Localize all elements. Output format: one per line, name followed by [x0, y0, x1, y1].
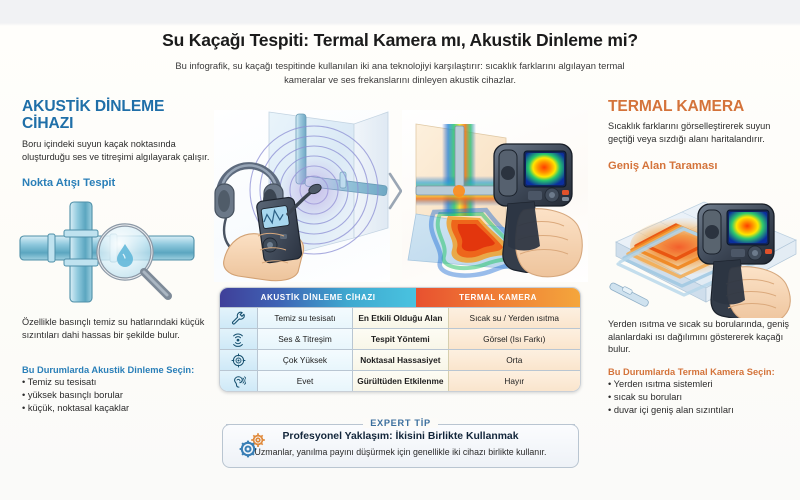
acoustic-note: Özellikle basınçlı temiz su hatlarındaki… — [22, 316, 214, 341]
signal-icon — [220, 329, 258, 349]
tip-heading: Profesyonel Yaklaşım: İkisini Birlikte K… — [222, 431, 579, 442]
table-cell-thermal: Hayır — [449, 371, 580, 391]
acoustic-use-cases-title: Bu Durumlarda Akustik Dinleme Seçin: — [22, 364, 218, 376]
table-cell-acoustic: Ses & Titreşim — [258, 329, 353, 349]
table-row: Ses & Titreşim Tespit Yöntemi Görsel (Is… — [220, 328, 580, 349]
infographic-canvas: Su Kaçağı Tespiti: Termal Kamera mı, Aku… — [0, 0, 800, 500]
table-header-acoustic: AKUSTİK DİNLEME CİHAZI — [220, 288, 416, 307]
acoustic-column: AKUSTİK DİNLEME CİHAZI Boru içindeki suy… — [22, 98, 212, 191]
target-icon — [220, 350, 258, 370]
table-header-thermal: TERMAL KAMERA — [416, 288, 580, 307]
header: Su Kaçağı Tespiti: Termal Kamera mı, Aku… — [0, 30, 800, 86]
thermal-use-cases-title: Bu Durumlarda Termal Kamera Seçin: — [608, 366, 800, 378]
thermal-column: TERMAL KAMERA Sıcaklık farklarını görsel… — [608, 98, 798, 173]
acoustic-listening-device-illustration — [214, 110, 390, 282]
acoustic-description: Boru içindeki suyun kaçak noktasında olu… — [22, 138, 212, 163]
acoustic-heading: AKUSTİK DİNLEME CİHAZI — [22, 98, 212, 133]
table-cell-acoustic: Temiz su tesisatı — [258, 308, 353, 328]
table-cell-acoustic: Evet — [258, 371, 353, 391]
table-cell-label: Noktasal Hassasiyet — [353, 350, 448, 370]
tip-legend: EXPERT TİP — [222, 418, 579, 428]
ear-icon — [220, 371, 258, 391]
table-cell-label: En Etkili Olduğu Alan — [353, 308, 448, 328]
table-cell-thermal: Görsel (Isı Farkı) — [449, 329, 580, 349]
table-row: Evet Gürültüden Etkilenme Hayır — [220, 370, 580, 391]
table-row: Çok Yüksek Noktasal Hassasiyet Orta — [220, 349, 580, 370]
thermal-camera-wall-illustration — [402, 110, 588, 282]
acoustic-subheading: Nokta Atışı Tespit — [22, 177, 212, 190]
table-cell-acoustic: Çok Yüksek — [258, 350, 353, 370]
table-cell-thermal: Sıcak su / Yerden ısıtma — [449, 308, 580, 328]
list-item: • küçük, noktasal kaçaklar — [22, 402, 218, 415]
thermal-note: Yerden ısıtma ve sıcak su borularında, g… — [608, 318, 800, 356]
table-header-row: AKUSTİK DİNLEME CİHAZI TERMAL KAMERA — [220, 288, 580, 307]
acoustic-use-cases: Bu Durumlarda Akustik Dinleme Seçin: • T… — [22, 364, 218, 416]
table-cell-label: Tespit Yöntemi — [353, 329, 448, 349]
list-item: • sıcak su boruları — [608, 391, 800, 404]
table-cell-label: Gürültüden Etkilenme — [353, 371, 448, 391]
thermal-camera-floor-heating-illustration — [606, 196, 798, 318]
table-row: Temiz su tesisatı En Etkili Olduğu Alan … — [220, 307, 580, 328]
thermal-use-cases: Bu Durumlarda Termal Kamera Seçin: • Yer… — [608, 366, 800, 418]
page-subtitle: Bu infografik, su kaçağı tespitinde kull… — [160, 59, 640, 86]
thermal-description: Sıcaklık farklarını görselleştirerek suy… — [608, 120, 798, 145]
thermal-heading: TERMAL KAMERA — [608, 98, 798, 115]
list-item: • duvar içi geniş alan sızıntıları — [608, 404, 800, 417]
tip-body: Uzmanlar, yanılma payını düşürmek için g… — [222, 447, 579, 457]
wrench-icon — [220, 308, 258, 328]
page-title: Su Kaçağı Tespiti: Termal Kamera mı, Aku… — [0, 30, 800, 50]
tip-legend-text: EXPERT TİP — [363, 418, 438, 428]
list-item: • yüksek basınçlı borular — [22, 389, 218, 402]
list-item: • Yerden ısıtma sistemleri — [608, 378, 800, 391]
pipe-leak-magnifier-illustration — [18, 196, 196, 314]
thermal-subheading: Geniş Alan Taraması — [608, 160, 798, 173]
list-item: • Temiz su tesisatı — [22, 376, 218, 389]
comparison-table: AKUSTİK DİNLEME CİHAZI TERMAL KAMERA Tem… — [219, 287, 581, 392]
table-cell-thermal: Orta — [449, 350, 580, 370]
